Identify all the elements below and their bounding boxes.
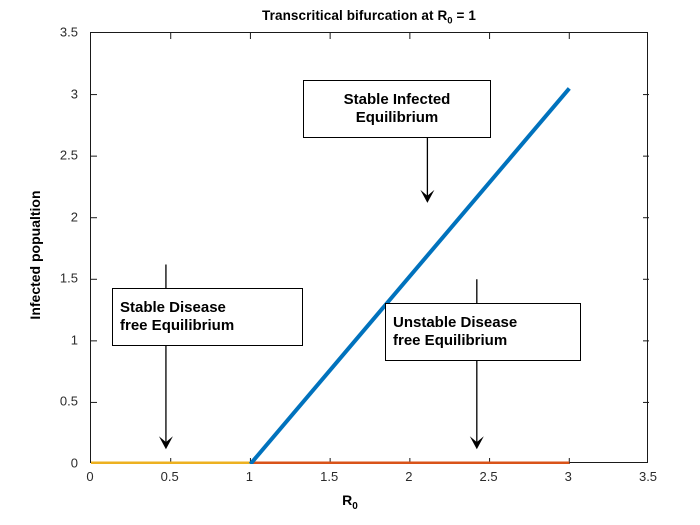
annotation-line-2: free Equilibrium xyxy=(120,317,295,334)
annotation-stable-infected-equilibrium: Stable Infected Equilibrium xyxy=(303,80,491,138)
x-tick-label: 0.5 xyxy=(161,470,179,483)
x-tick-label: 3 xyxy=(565,470,572,483)
annotation-line-1: Stable Disease xyxy=(120,299,295,316)
annotation-line-2: Equilibrium xyxy=(311,109,483,126)
x-tick-label: 3.5 xyxy=(639,470,657,483)
x-tick-label: 2 xyxy=(405,470,412,483)
x-tick-label: 0 xyxy=(86,470,93,483)
annotation-stable-disease-free-equilibrium: Stable Disease free Equilibrium xyxy=(112,288,303,346)
x-axis-label-subscript: 0 xyxy=(352,501,358,512)
x-axis-tick-labels: 00.511.522.533.5 xyxy=(0,0,700,525)
y-axis-label: Infected popualtion xyxy=(27,55,43,455)
annotation-line-2: free Equilibrium xyxy=(393,332,573,349)
x-axis-label: R0 xyxy=(0,492,700,512)
x-axis-label-main: R xyxy=(342,492,352,508)
x-tick-label: 1 xyxy=(246,470,253,483)
x-tick-label: 1.5 xyxy=(320,470,338,483)
annotation-line-1: Stable Infected xyxy=(311,91,483,108)
annotation-unstable-disease-free-equilibrium: Unstable Disease free Equilibrium xyxy=(385,303,581,361)
annotation-line-1: Unstable Disease xyxy=(393,314,573,331)
x-tick-label: 2.5 xyxy=(480,470,498,483)
figure-canvas: Transcritical bifurcation at R0 = 1 00.5… xyxy=(0,0,700,525)
